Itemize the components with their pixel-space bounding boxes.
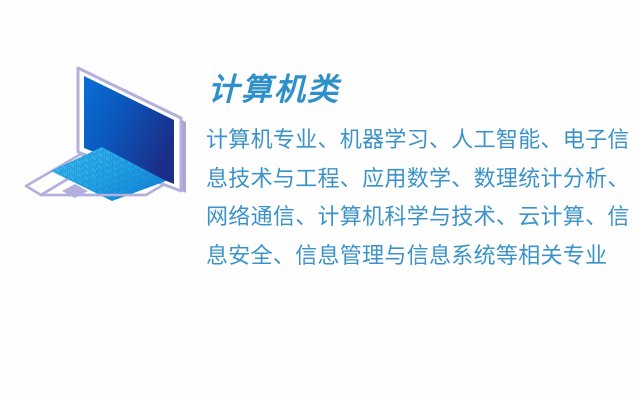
page-title: 计算机类 — [208, 70, 606, 110]
text-block: 计算机类 计算机专业、机器学习、人工智能、电子信 息技术与工程、应用数学、数理统… — [206, 70, 606, 276]
description-line: 息安全、信息管理与信息系统等相关专业 — [206, 238, 606, 277]
description-line: 网络通信、计算机科学与技术、云计算、信 — [206, 199, 606, 238]
description-line: 息技术与工程、应用数学、数理统计分析、 — [206, 161, 606, 200]
description-line: 计算机专业、机器学习、人工智能、电子信 — [206, 122, 606, 161]
category-banner: 计算机类 计算机专业、机器学习、人工智能、电子信 息技术与工程、应用数学、数理统… — [0, 0, 638, 400]
description-text: 计算机专业、机器学习、人工智能、电子信 息技术与工程、应用数学、数理统计分析、 … — [206, 122, 606, 276]
laptop-icon — [18, 48, 203, 213]
